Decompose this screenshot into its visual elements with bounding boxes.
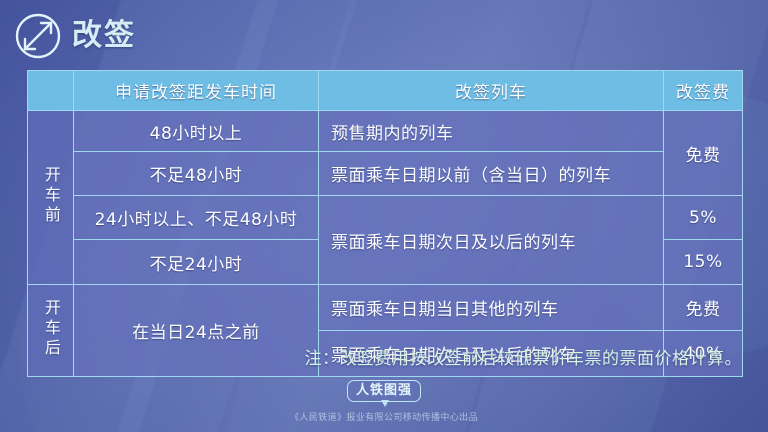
page-footer: 人铁图强 《人民铁道》报业有限公司移动传播中心出品 (0, 380, 768, 423)
cell-fee: 15% (664, 240, 743, 285)
publisher-caption: 《人民铁道》报业有限公司移动传播中心出品 (0, 410, 768, 423)
column-header-phase (28, 71, 74, 111)
table-row: 开车后 在当日24点之前 票面乘车日期当日其他的列车 免费 (28, 285, 743, 331)
fee-table-container: 申请改签距发车时间 改签列车 改签费 开车前 48小时以上 预售期内的列车 免费… (27, 70, 742, 377)
cell-fee: 5% (664, 196, 743, 240)
cell-timing: 48小时以上 (74, 111, 319, 152)
table-header-row: 申请改签距发车时间 改签列车 改签费 (28, 71, 743, 111)
cell-timing: 24小时以上、不足48小时 (74, 196, 319, 240)
cell-timing: 不足48小时 (74, 152, 319, 196)
change-ticket-fee-table: 申请改签距发车时间 改签列车 改签费 开车前 48小时以上 预售期内的列车 免费… (27, 70, 743, 377)
cell-phase-before-departure: 开车前 (28, 111, 74, 285)
publisher-logo: 人铁图强 (347, 380, 421, 402)
page-header: 改签 (14, 12, 136, 60)
cell-train: 票面乘车日期次日及以后的列车 (319, 196, 664, 285)
cell-timing: 在当日24点之前 (74, 285, 319, 377)
column-header-fee: 改签费 (664, 71, 743, 111)
cell-timing: 不足24小时 (74, 240, 319, 285)
table-body: 开车前 48小时以上 预售期内的列车 免费 不足48小时 票面乘车日期以前（含当… (28, 111, 743, 377)
cell-fee: 免费 (664, 111, 743, 196)
cell-train: 预售期内的列车 (319, 111, 664, 152)
cell-train: 票面乘车日期当日其他的列车 (319, 285, 664, 331)
table-row: 不足48小时 票面乘车日期以前（含当日）的列车 (28, 152, 743, 196)
page-title: 改签 (72, 21, 136, 51)
exchange-arrows-circle-icon (14, 12, 62, 60)
cell-fee: 免费 (664, 285, 743, 331)
phase-label: 开车前 (42, 166, 59, 226)
table-head: 申请改签距发车时间 改签列车 改签费 (28, 71, 743, 111)
table-row: 开车前 48小时以上 预售期内的列车 免费 (28, 111, 743, 152)
column-header-train: 改签列车 (319, 71, 664, 111)
phase-label: 开车后 (42, 299, 59, 359)
table-row: 24小时以上、不足48小时 票面乘车日期次日及以后的列车 5% (28, 196, 743, 240)
footnote: 注：改签费用按改签前后较低票价车票的票面价格计算。 (305, 344, 743, 369)
cell-phase-after-departure: 开车后 (28, 285, 74, 377)
cell-train: 票面乘车日期以前（含当日）的列车 (319, 152, 664, 196)
column-header-timing: 申请改签距发车时间 (74, 71, 319, 111)
